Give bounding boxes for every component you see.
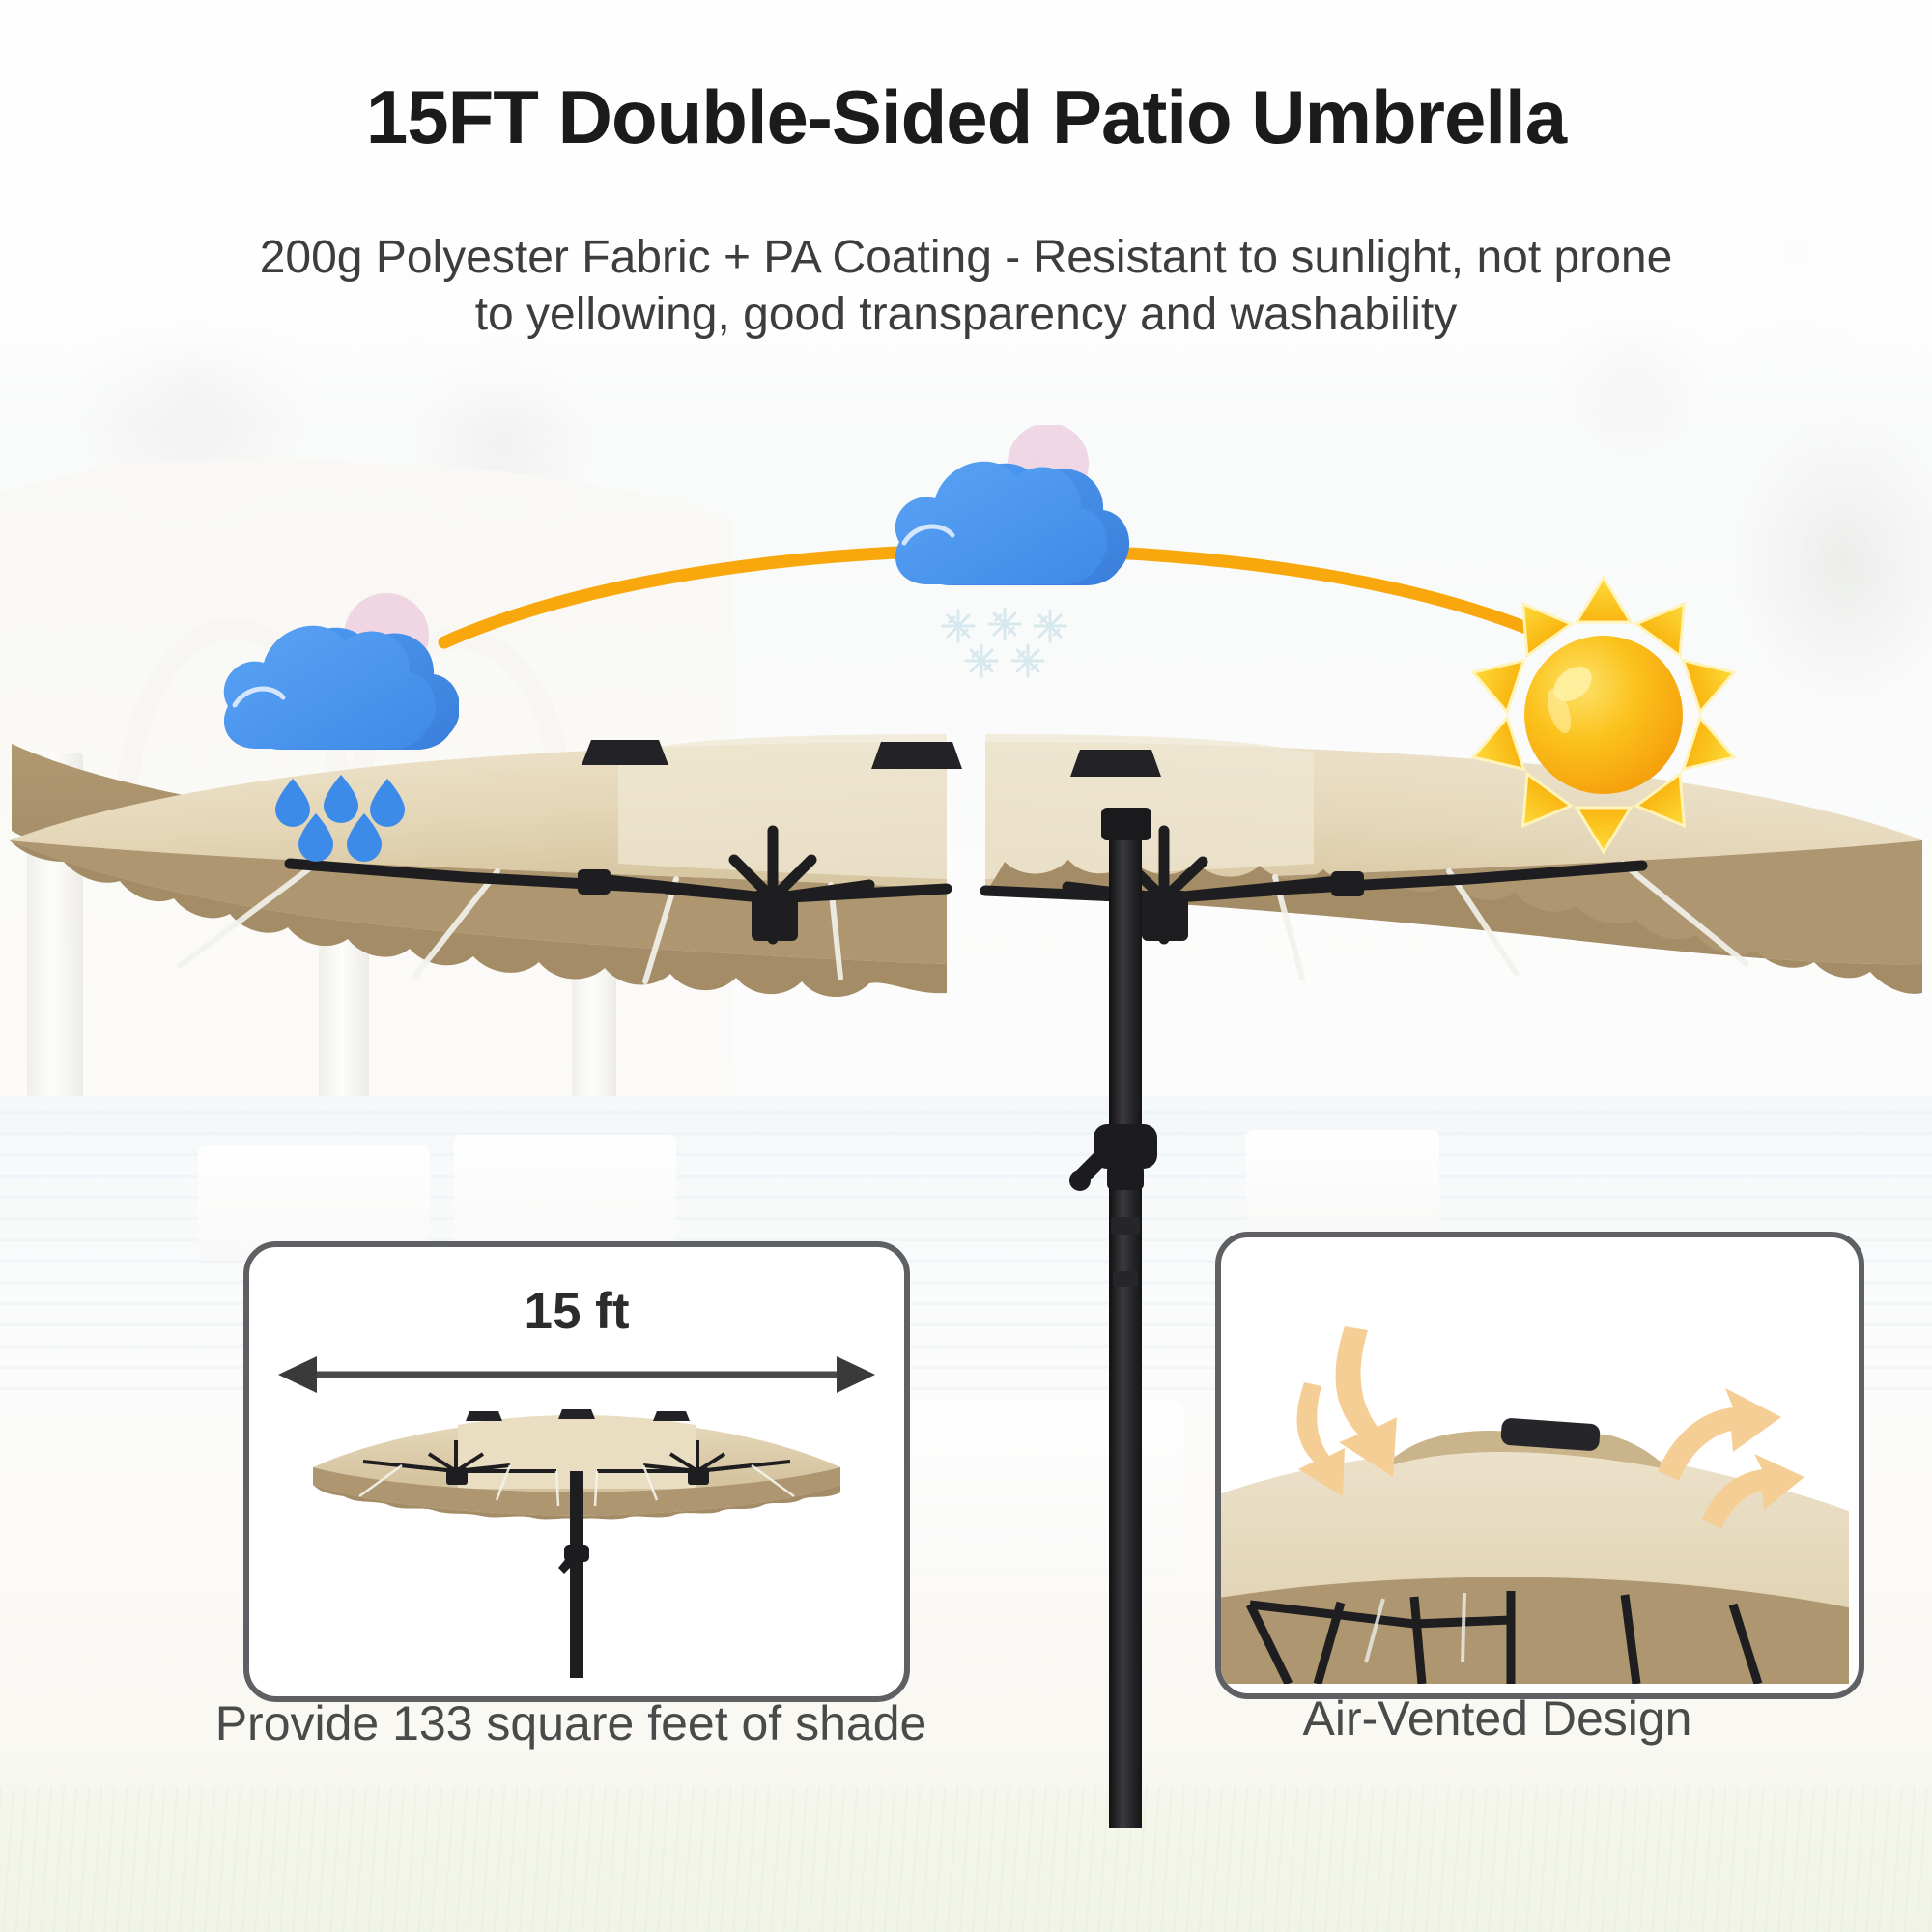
sun-icon xyxy=(1459,570,1748,860)
page-subtitle: 200g Polyester Fabric + PA Coating - Res… xyxy=(77,230,1855,343)
snow-cloud-icon xyxy=(850,425,1140,724)
air-vent-card[interactable] xyxy=(1215,1232,1864,1699)
infographic-canvas: 15FT Double-Sided Patio Umbrella 200g Po… xyxy=(0,0,1932,1932)
airflow-arrow-in-1 xyxy=(1336,1326,1397,1477)
dimension-label: 15 ft xyxy=(249,1282,904,1341)
shade-area-card[interactable]: 15 ft xyxy=(243,1241,910,1702)
air-vent-illustration xyxy=(1221,1237,1849,1684)
umbrella-thumbnail xyxy=(267,1392,887,1682)
shade-area-caption: Provide 133 square feet of shade xyxy=(97,1695,1045,1751)
crank-handle xyxy=(1069,1124,1157,1191)
subtitle-line-2: to yellowing, good transparency and wash… xyxy=(77,287,1855,344)
raindrops xyxy=(275,775,405,862)
snowflakes xyxy=(943,609,1065,676)
weather-resistance-row xyxy=(0,502,1932,889)
dimension-arrow xyxy=(249,1355,904,1394)
center-pole xyxy=(1109,815,1142,1828)
subtitle-line-1: 200g Polyester Fabric + PA Coating - Res… xyxy=(77,230,1855,287)
rain-cloud-icon xyxy=(179,589,459,889)
air-vent-caption: Air-Vented Design xyxy=(1082,1690,1913,1747)
page-title: 15FT Double-Sided Patio Umbrella xyxy=(0,73,1932,161)
sun-disc xyxy=(1524,636,1683,794)
